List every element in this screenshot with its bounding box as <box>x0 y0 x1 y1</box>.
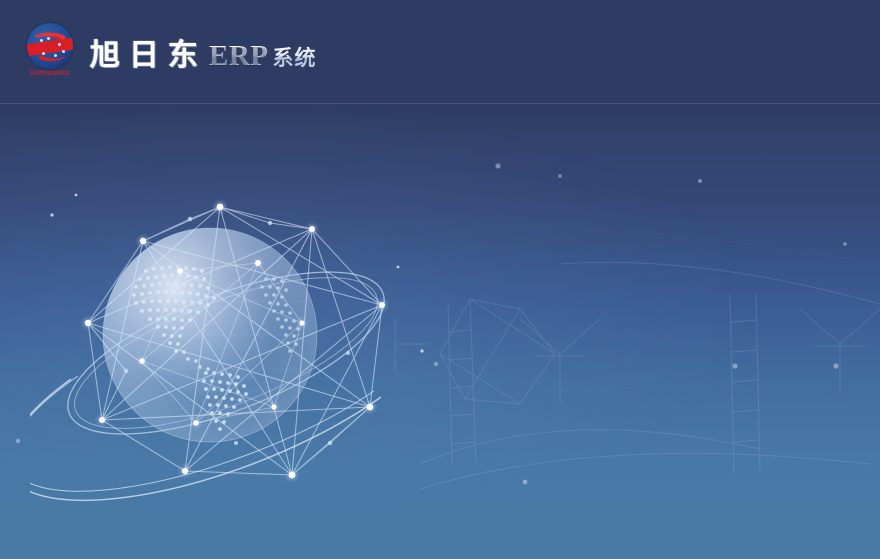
emblem-dot <box>42 52 45 55</box>
network-globe-illustration <box>30 175 460 505</box>
emblem-dot <box>54 54 57 57</box>
app-logo[interactable]: XURIDONG <box>24 23 76 81</box>
xuridong-globe-emblem-icon <box>27 23 73 69</box>
emblem-dot <box>47 37 50 40</box>
emblem-dot <box>58 43 61 46</box>
splash-screen: XURIDONG 旭日东 ERP 系统 <box>0 0 880 559</box>
brand-system-label: 系统 <box>273 42 317 72</box>
app-header: XURIDONG 旭日东 ERP 系统 <box>0 0 880 104</box>
logo-caption: XURIDONG <box>30 70 70 77</box>
emblem-dot <box>62 50 65 53</box>
emblem-dot <box>40 39 43 42</box>
brand-wordmark: 旭日东 ERP 系统 <box>90 30 317 74</box>
emblem-swoosh-icon <box>27 23 73 69</box>
header-brand-group: XURIDONG 旭日东 ERP 系统 <box>24 0 317 104</box>
brand-chinese-name: 旭日东 <box>90 30 207 74</box>
brand-erp-label: ERP <box>209 40 269 73</box>
